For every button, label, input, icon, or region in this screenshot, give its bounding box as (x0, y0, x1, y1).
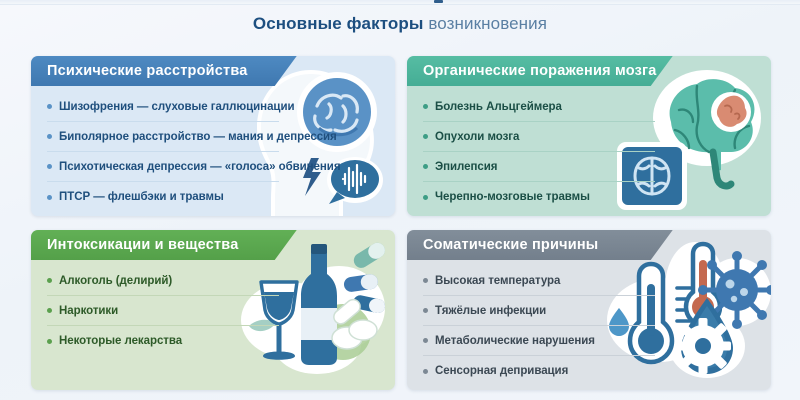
card-title-somatic: Соматические причины (423, 237, 598, 253)
card-title-intoxication: Интоксикации и вещества (47, 237, 238, 253)
card-header-intoxication: Интоксикации и вещества (31, 230, 297, 260)
list-item-label: Высокая температура (435, 275, 560, 287)
list-item-label: Эпилепсия (435, 161, 497, 173)
list-item[interactable]: Эпилепсия (423, 152, 655, 182)
list-item[interactable]: Психотическая депрессия — «голоса» обвин… (47, 152, 279, 182)
page-title-strong: Основные факторы (253, 14, 424, 33)
list-item[interactable]: Метаболические нарушения (423, 326, 655, 356)
card-psychiatric-disorders[interactable]: Психические расстройства Шизофрения — сл… (31, 56, 395, 216)
page-title-light: возникновения (428, 14, 547, 33)
top-cropped-strip (0, 0, 800, 5)
list-item-label: Черепно-мозговые травмы (435, 191, 590, 203)
list-item-label: Наркотики (59, 305, 118, 317)
card-intoxication-substances[interactable]: Интоксикации и вещества Алкоголь (делири… (31, 230, 395, 390)
list-item-label: Сенсорная депривация (435, 365, 568, 377)
cropped-title-fragment (434, 0, 443, 3)
list-item[interactable]: Алкоголь (делирий) (47, 266, 279, 296)
list-item[interactable]: Биполярное расстройство — мания и депрес… (47, 122, 279, 152)
card-list-psychiatric: Шизофрения — слуховые галлюцинации Бипол… (31, 86, 279, 212)
list-item[interactable]: Опухоли мозга (423, 122, 655, 152)
factor-cards-grid: Психические расстройства Шизофрения — сл… (31, 56, 771, 391)
card-title-psychiatric: Психические расстройства (47, 63, 248, 79)
list-item[interactable]: Сенсорная депривация (423, 356, 655, 386)
bullet-dot-icon (423, 134, 428, 139)
bullet-dot-icon (47, 164, 52, 169)
bullet-dot-icon (47, 339, 52, 344)
list-item[interactable]: Шизофрения — слуховые галлюцинации (47, 92, 279, 122)
list-item-label: Биполярное расстройство — мания и депрес… (59, 131, 337, 143)
page-title: Основные факторы возникновения (0, 14, 800, 34)
list-item[interactable]: Болезнь Альцгеймера (423, 92, 655, 122)
bullet-dot-icon (47, 195, 52, 200)
bullet-dot-icon (423, 308, 428, 313)
card-list-intoxication: Алкоголь (делирий) Наркотики Некоторые л… (31, 260, 279, 356)
list-item[interactable]: Наркотики (47, 296, 279, 326)
list-item[interactable]: Некоторые лекарства (47, 326, 279, 356)
list-item[interactable]: Черепно-мозговые травмы (423, 182, 655, 212)
card-header-somatic: Соматические причины (407, 230, 673, 260)
bullet-dot-icon (423, 369, 428, 374)
list-item-label: Болезнь Альцгеймера (435, 101, 562, 113)
bullet-dot-icon (47, 308, 52, 313)
list-item-label: Шизофрения — слуховые галлюцинации (59, 101, 295, 113)
list-item-label: Опухоли мозга (435, 131, 519, 143)
list-item-label: ПТСР — флешбэки и травмы (59, 191, 224, 203)
list-item-label: Тяжёлые инфекции (435, 305, 546, 317)
card-somatic-causes[interactable]: Соматические причины Высокая температура… (407, 230, 771, 390)
bullet-dot-icon (47, 134, 52, 139)
bullet-dot-icon (423, 104, 428, 109)
list-item[interactable]: ПТСР — флешбэки и травмы (47, 182, 279, 212)
card-list-somatic: Высокая температура Тяжёлые инфекции Мет… (407, 260, 655, 386)
card-header-organic: Органические поражения мозга (407, 56, 673, 86)
bullet-dot-icon (423, 195, 428, 200)
list-item-label: Алкоголь (делирий) (59, 275, 172, 287)
card-title-organic: Органические поражения мозга (423, 63, 657, 79)
card-organic-brain-lesions[interactable]: Органические поражения мозга Болезнь Аль… (407, 56, 771, 216)
list-item[interactable]: Высокая температура (423, 266, 655, 296)
list-item-label: Психотическая депрессия — «голоса» обвин… (59, 161, 340, 173)
bullet-dot-icon (423, 278, 428, 283)
card-header-psychiatric: Психические расстройства (31, 56, 297, 86)
list-item-label: Некоторые лекарства (59, 335, 182, 347)
bullet-dot-icon (47, 278, 52, 283)
list-item[interactable]: Тяжёлые инфекции (423, 296, 655, 326)
list-item-label: Метаболические нарушения (435, 335, 595, 347)
bullet-dot-icon (47, 104, 52, 109)
card-list-organic: Болезнь Альцгеймера Опухоли мозга Эпилеп… (407, 86, 655, 212)
bullet-dot-icon (423, 164, 428, 169)
bullet-dot-icon (423, 338, 428, 343)
